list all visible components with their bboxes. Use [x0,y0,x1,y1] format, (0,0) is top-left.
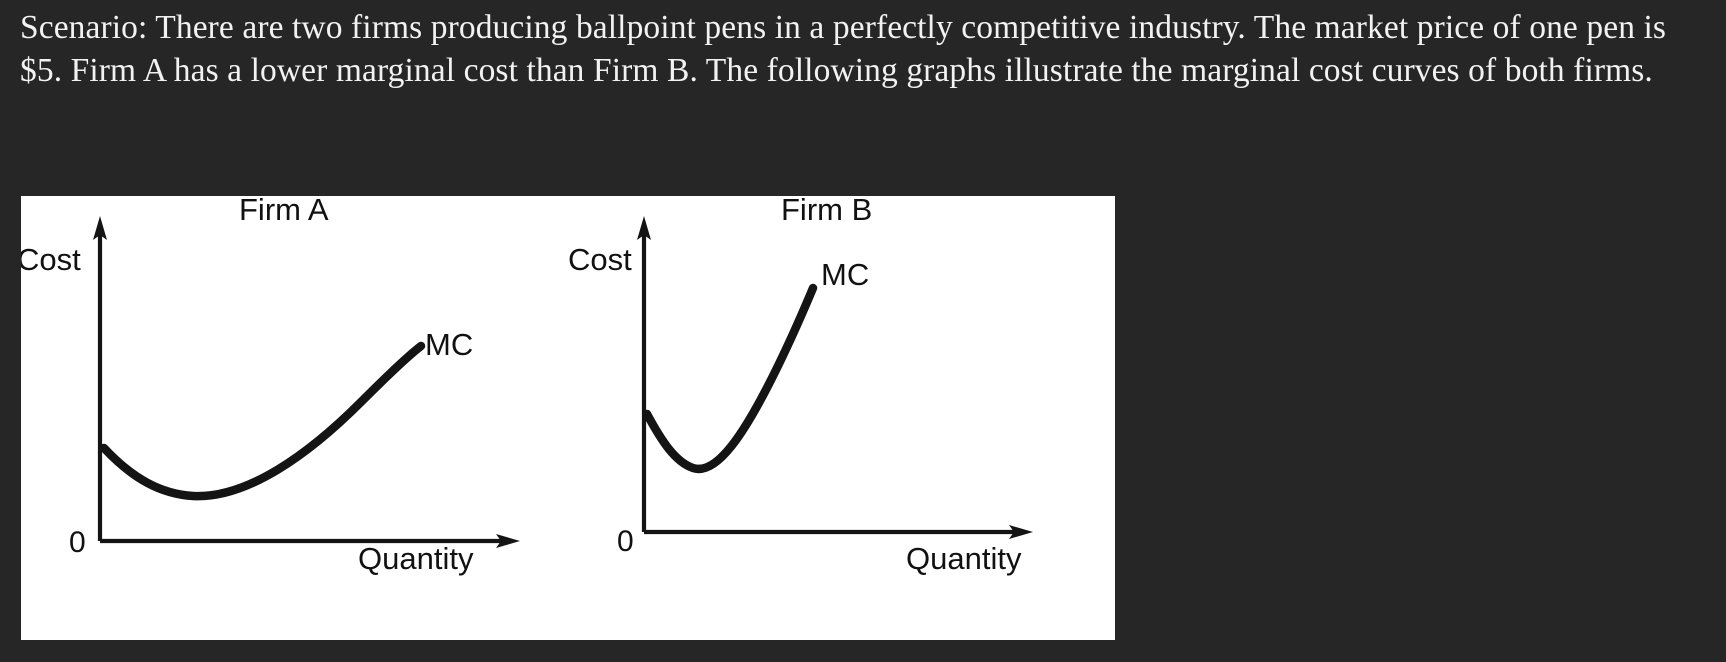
scenario-paragraph: Scenario: There are two firms producing … [20,6,1710,92]
mc-curve-firm-a [104,346,421,496]
figure-panel: Firm A Cost MC 0 Quantity Firm B Cost MC… [21,196,1115,640]
chart-firm-a: Firm A Cost MC 0 Quantity [21,196,581,640]
chart-svg-firm-a [21,196,581,640]
mc-curve-firm-b [647,288,813,469]
chart-svg-firm-b [581,196,1115,640]
chart-firm-b: Firm B Cost MC 0 Quantity [581,196,1115,640]
